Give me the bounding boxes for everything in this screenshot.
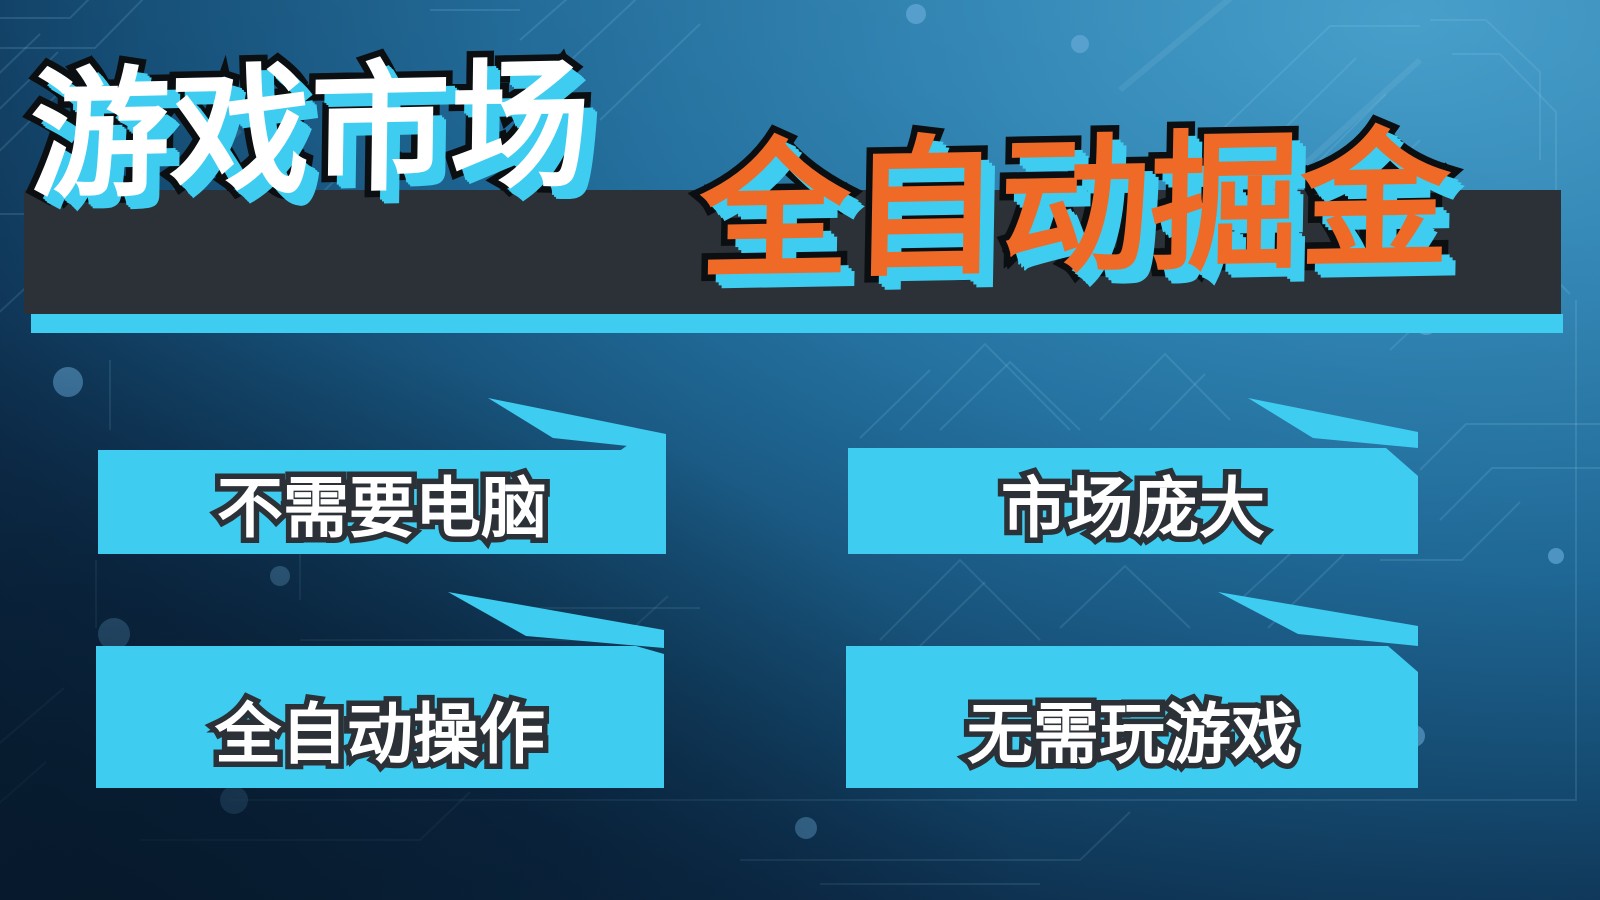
feature-label: 无需玩游戏 [846,702,1418,768]
headline-cyan-underline [31,314,1563,333]
feature-banner-large-market[interactable]: 市场庞大 [848,398,1418,554]
page-title-accent: 全自动掘金 [699,125,1452,288]
feature-label: 全自动操作 [96,702,664,768]
feature-banner-no-gaming[interactable]: 无需玩游戏 [846,592,1418,788]
page-title-main: 游戏市场 [29,56,591,208]
feature-label: 市场庞大 [848,476,1418,542]
feature-label: 不需要电脑 [98,476,666,542]
feature-banner-full-auto[interactable]: 全自动操作 [96,592,664,788]
feature-banner-no-computer[interactable]: 不需要电脑 [98,398,666,554]
poster-canvas: 游戏市场 全自动掘金 不需要电脑 市场庞大 [0,0,1600,900]
headline-block: 游戏市场 全自动掘金 [0,0,1600,340]
